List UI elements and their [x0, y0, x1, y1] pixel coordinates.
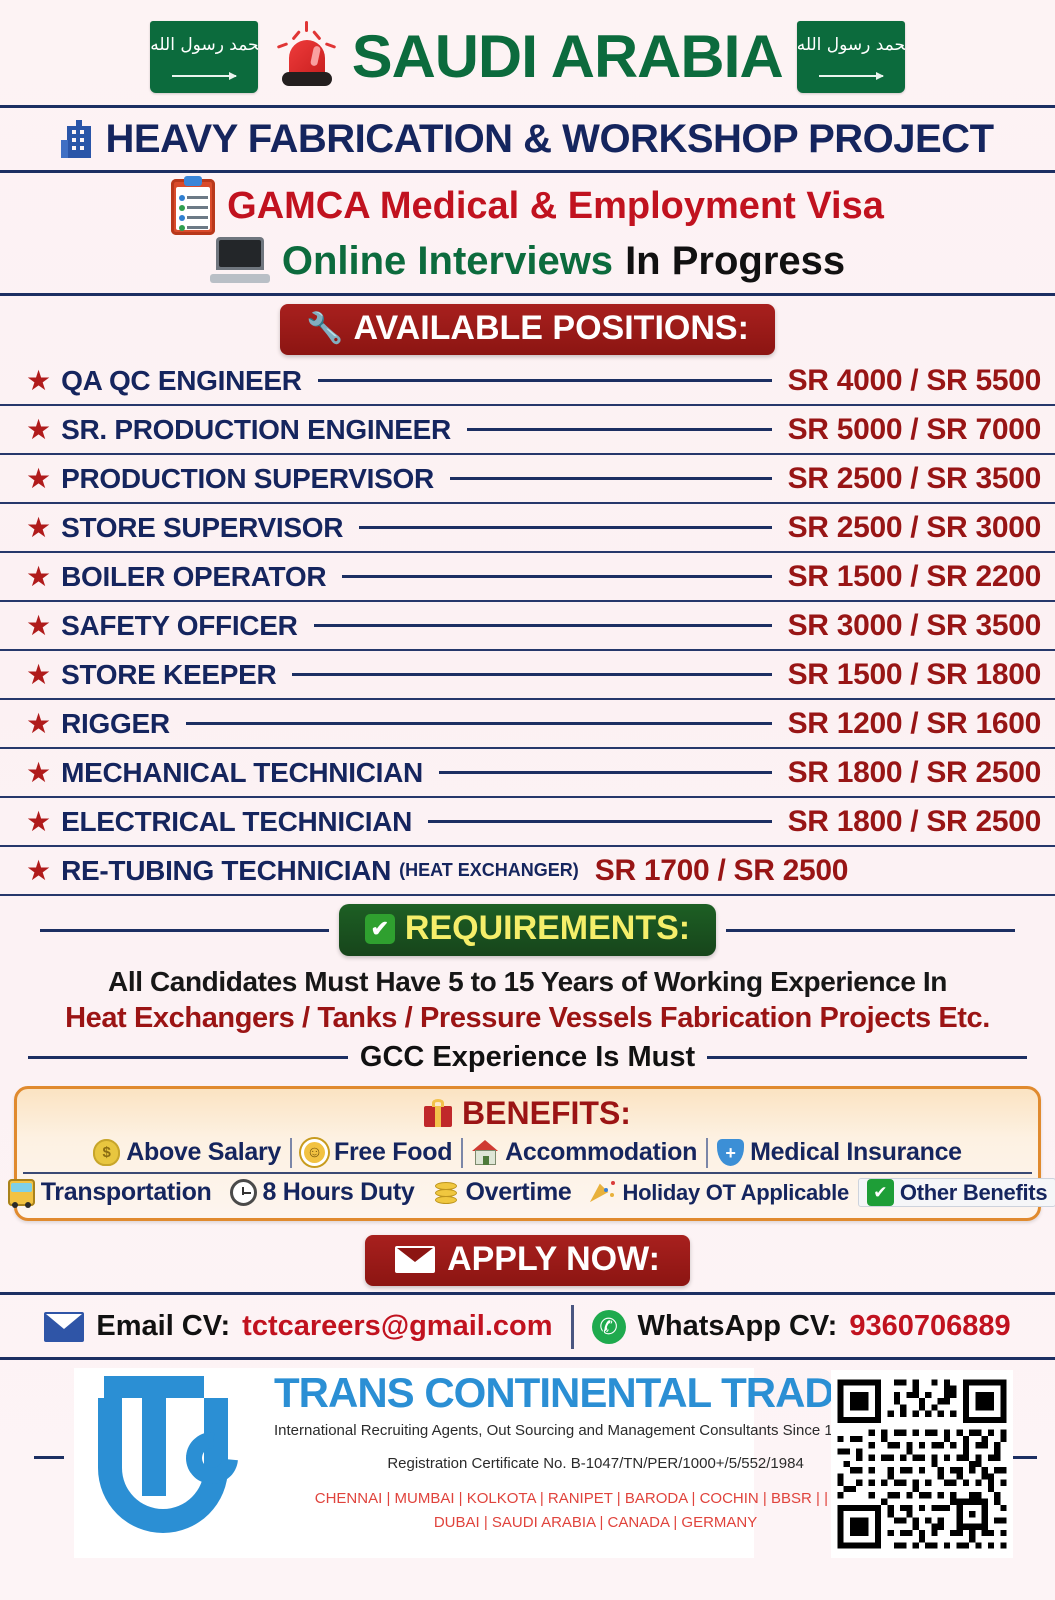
benefits-title: BENEFITS:: [462, 1095, 631, 1132]
benefits-header: BENEFITS:: [23, 1093, 1032, 1136]
position-title: RE-TUBING TECHNICIAN: [61, 855, 391, 887]
requirements-banner-row: ✔ REQUIREMENTS:: [0, 896, 1055, 955]
requirements-line-2: Heat Exchangers / Tanks / Pressure Vesse…: [0, 998, 1055, 1035]
benefits-row-2: Transportation 8 Hours Duty Overtime: [23, 1172, 1032, 1210]
benefit-label: Free Food: [334, 1138, 452, 1167]
position-salary: SR 1800 / SR 2500: [788, 805, 1041, 839]
page-title: HEAVY FABRICATION & WORKSHOP PROJECT: [105, 119, 993, 159]
benefit-label: Above Salary: [126, 1138, 281, 1167]
apply-now-banner[interactable]: APPLY NOW:: [365, 1235, 690, 1286]
position-row: ★ PRODUCTION SUPERVISOR SR 2500 / SR 350…: [0, 455, 1055, 504]
company-tagline: International Recruiting Agents, Out Sou…: [274, 1414, 917, 1439]
saudi-flag-icon: لا إله إلا الله محمد رسول الله: [797, 21, 905, 93]
position-title: SAFETY OFFICER: [61, 610, 297, 642]
position-row: ★ BOILER OPERATOR SR 1500 / SR 2200: [0, 553, 1055, 602]
position-salary: SR 5000 / SR 7000: [788, 413, 1041, 447]
leader-line: [186, 722, 772, 725]
requirements-line-3: GCC Experience Is Must: [360, 1041, 695, 1074]
leader-line: [342, 575, 771, 578]
email-value[interactable]: tctcareers@gmail.com: [242, 1310, 552, 1343]
apply-banner-row: APPLY NOW:: [0, 1221, 1055, 1286]
flag-shahada-text: لا إله إلا الله محمد رسول الله: [797, 37, 905, 54]
clock-icon: [230, 1179, 257, 1206]
requirements-line-1: All Candidates Must Have 5 to 15 Years o…: [0, 956, 1055, 998]
interview-status-secondary: In Progress: [625, 240, 845, 282]
position-title: SR. PRODUCTION ENGINEER: [61, 414, 451, 446]
position-salary: SR 2500 / SR 3000: [788, 511, 1041, 545]
saudi-flag-icon: لا إله إلا الله محمد رسول الله: [150, 21, 258, 93]
company-text-block: TRANS CONTINENTAL TRADERS International …: [274, 1368, 925, 1535]
star-icon: ★: [26, 710, 51, 738]
available-positions-label: AVAILABLE POSITIONS:: [353, 310, 748, 347]
benefit-label: Holiday OT Applicable: [623, 1180, 849, 1206]
benefit-item: 8 Hours Duty: [221, 1178, 424, 1207]
requirements-label: REQUIREMENTS:: [405, 910, 690, 947]
visa-line: GAMCA Medical & Employment Visa: [227, 187, 884, 227]
star-icon: ★: [26, 808, 51, 836]
star-icon: ★: [26, 514, 51, 542]
star-icon: ★: [26, 367, 51, 395]
header-project-row: HEAVY FABRICATION & WORKSHOP PROJECT: [0, 108, 1055, 170]
house-icon: [472, 1139, 499, 1166]
whatsapp-icon: [592, 1310, 626, 1344]
leader-line: [359, 526, 771, 529]
company-cities-line-1: CHENNAI | MUMBAI | KOLKOTA | RANIPET | B…: [274, 1472, 917, 1511]
position-title: ELECTRICAL TECHNICIAN: [61, 806, 412, 838]
tct-logo-icon: [74, 1368, 274, 1558]
star-icon: ★: [26, 661, 51, 689]
available-positions-banner: 🔧 AVAILABLE POSITIONS:: [280, 304, 775, 355]
divider: [707, 1056, 1027, 1059]
benefit-item: Holiday OT Applicable: [581, 1179, 858, 1206]
position-salary: SR 3000 / SR 3500: [788, 609, 1041, 643]
leader-line: [314, 624, 772, 627]
flag-sword: [172, 75, 236, 77]
gift-icon: [424, 1099, 452, 1127]
company-cities-line-2: DUBAI | SAUDI ARABIA | CANADA | GERMANY: [274, 1510, 917, 1535]
benefit-item: Free Food: [292, 1138, 461, 1167]
job-poster: لا إله إلا الله محمد رسول الله SAUDI ARA…: [0, 0, 1055, 1600]
leader-line: [428, 820, 772, 823]
position-salary: SR 1800 / SR 2500: [788, 756, 1041, 790]
wrench-icon: 🔧: [306, 311, 343, 346]
envelope-icon: [395, 1246, 435, 1273]
position-salary: SR 2500 / SR 3500: [788, 462, 1041, 496]
position-title: STORE KEEPER: [61, 659, 276, 691]
leader-line: [450, 477, 772, 480]
benefit-label: 8 Hours Duty: [263, 1178, 415, 1207]
clipboard-icon: [171, 179, 215, 235]
position-row: ★ STORE SUPERVISOR SR 2500 / SR 3000: [0, 504, 1055, 553]
bus-icon: [8, 1179, 35, 1206]
header-country-row: لا إله إلا الله محمد رسول الله SAUDI ARA…: [0, 0, 1055, 105]
position-row: ★ MECHANICAL TECHNICIAN SR 1800 / SR 250…: [0, 749, 1055, 798]
position-salary: SR 4000 / SR 5500: [788, 364, 1041, 398]
company-name: TRANS CONTINENTAL TRADERS: [274, 1372, 917, 1414]
email-contact[interactable]: Email CV: tctcareers@gmail.com: [26, 1310, 570, 1343]
check-icon: ✔: [365, 914, 395, 944]
benefits-row-1: Above Salary Free Food Accommodation + M…: [23, 1136, 1032, 1170]
company-registration: Registration Certificate No. B-1047/TN/P…: [274, 1439, 917, 1472]
star-icon: ★: [26, 416, 51, 444]
position-title: STORE SUPERVISOR: [61, 512, 343, 544]
positions-list: ★ QA QC ENGINEER SR 4000 / SR 5500 ★ SR.…: [0, 355, 1055, 896]
divider: [34, 1456, 64, 1459]
whatsapp-contact[interactable]: WhatsApp CV: 9360706889: [574, 1310, 1029, 1344]
food-plate-icon: [301, 1139, 328, 1166]
positions-banner-row: 🔧 AVAILABLE POSITIONS:: [0, 296, 1055, 355]
email-label: Email CV:: [96, 1310, 230, 1343]
star-icon: ★: [26, 857, 51, 885]
company-card: TRANS CONTINENTAL TRADERS International …: [74, 1368, 754, 1558]
position-row: ★ RIGGER SR 1200 / SR 1600: [0, 700, 1055, 749]
position-row: ★ QA QC ENGINEER SR 4000 / SR 5500: [0, 357, 1055, 406]
position-title: MECHANICAL TECHNICIAN: [61, 757, 423, 789]
apply-now-label: APPLY NOW:: [447, 1240, 660, 1279]
benefit-label: Accommodation: [505, 1138, 697, 1167]
benefit-item: + Medical Insurance: [708, 1138, 971, 1167]
qr-code-icon[interactable]: [831, 1370, 1013, 1558]
flag-shahada-text: لا إله إلا الله محمد رسول الله: [150, 37, 258, 54]
position-salary: SR 1200 / SR 1600: [788, 707, 1041, 741]
benefit-label: Medical Insurance: [750, 1138, 962, 1167]
star-icon: ★: [26, 612, 51, 640]
building-icon: [61, 120, 95, 158]
star-icon: ★: [26, 759, 51, 787]
position-subtitle: (HEAT EXCHANGER): [399, 860, 579, 881]
position-salary: SR 1500 / SR 1800: [788, 658, 1041, 692]
star-icon: ★: [26, 465, 51, 493]
requirements-banner: ✔ REQUIREMENTS:: [339, 904, 716, 955]
green-check-icon: [867, 1179, 894, 1206]
position-salary: SR 1500 / SR 2200: [788, 560, 1041, 594]
party-popper-icon: [590, 1179, 617, 1206]
position-row: ★ SAFETY OFFICER SR 3000 / SR 3500: [0, 602, 1055, 651]
siren-icon: [276, 24, 338, 90]
medical-shield-icon: +: [717, 1139, 744, 1166]
position-title: RIGGER: [61, 708, 170, 740]
leader-line: [292, 673, 771, 676]
position-salary: SR 1700 / SR 2500: [595, 854, 848, 888]
position-title: QA QC ENGINEER: [61, 365, 302, 397]
money-bag-icon: [93, 1139, 120, 1166]
whatsapp-label: WhatsApp CV:: [638, 1310, 838, 1343]
leader-line: [318, 379, 772, 382]
benefit-item: Above Salary: [84, 1138, 290, 1167]
benefit-label: Overtime: [466, 1178, 572, 1207]
visa-row: GAMCA Medical & Employment Visa: [0, 179, 1055, 235]
benefit-item: Other Benefits: [858, 1178, 1055, 1207]
interview-row: Online Interviews In Progress: [0, 237, 1055, 285]
divider: [726, 929, 1015, 932]
star-icon: ★: [26, 563, 51, 591]
benefit-item: Transportation: [0, 1178, 221, 1207]
position-row: ★ ELECTRICAL TECHNICIAN SR 1800 / SR 250…: [0, 798, 1055, 847]
divider: [28, 1056, 348, 1059]
whatsapp-value[interactable]: 9360706889: [849, 1310, 1010, 1343]
divider: [40, 929, 329, 932]
requirements-line-3-row: GCC Experience Is Must: [0, 1035, 1055, 1074]
leader-line: [467, 428, 772, 431]
header-visa-block: GAMCA Medical & Employment Visa Online I…: [0, 173, 1055, 293]
position-row: ★ RE-TUBING TECHNICIAN (HEAT EXCHANGER) …: [0, 847, 1055, 896]
interview-status-primary: Online Interviews: [282, 240, 613, 282]
benefit-label: Transportation: [41, 1178, 212, 1207]
country-title: SAUDI ARABIA: [352, 27, 783, 87]
flag-sword: [819, 75, 883, 77]
coins-icon: [433, 1179, 460, 1206]
laptop-icon: [210, 237, 270, 285]
benefit-item: Accommodation: [463, 1138, 706, 1167]
benefit-label: Other Benefits: [900, 1180, 1047, 1206]
footer: TRANS CONTINENTAL TRADERS International …: [0, 1357, 1055, 1565]
envelope-icon: [44, 1312, 84, 1342]
leader-line: [439, 771, 772, 774]
position-title: PRODUCTION SUPERVISOR: [61, 463, 434, 495]
benefit-item: Overtime: [424, 1178, 581, 1207]
position-row: ★ STORE KEEPER SR 1500 / SR 1800: [0, 651, 1055, 700]
contact-row: Email CV: tctcareers@gmail.com WhatsApp …: [0, 1292, 1055, 1357]
benefits-card: BENEFITS: Above Salary Free Food Accommo…: [14, 1086, 1041, 1221]
position-row: ★ SR. PRODUCTION ENGINEER SR 5000 / SR 7…: [0, 406, 1055, 455]
position-title: BOILER OPERATOR: [61, 561, 326, 593]
